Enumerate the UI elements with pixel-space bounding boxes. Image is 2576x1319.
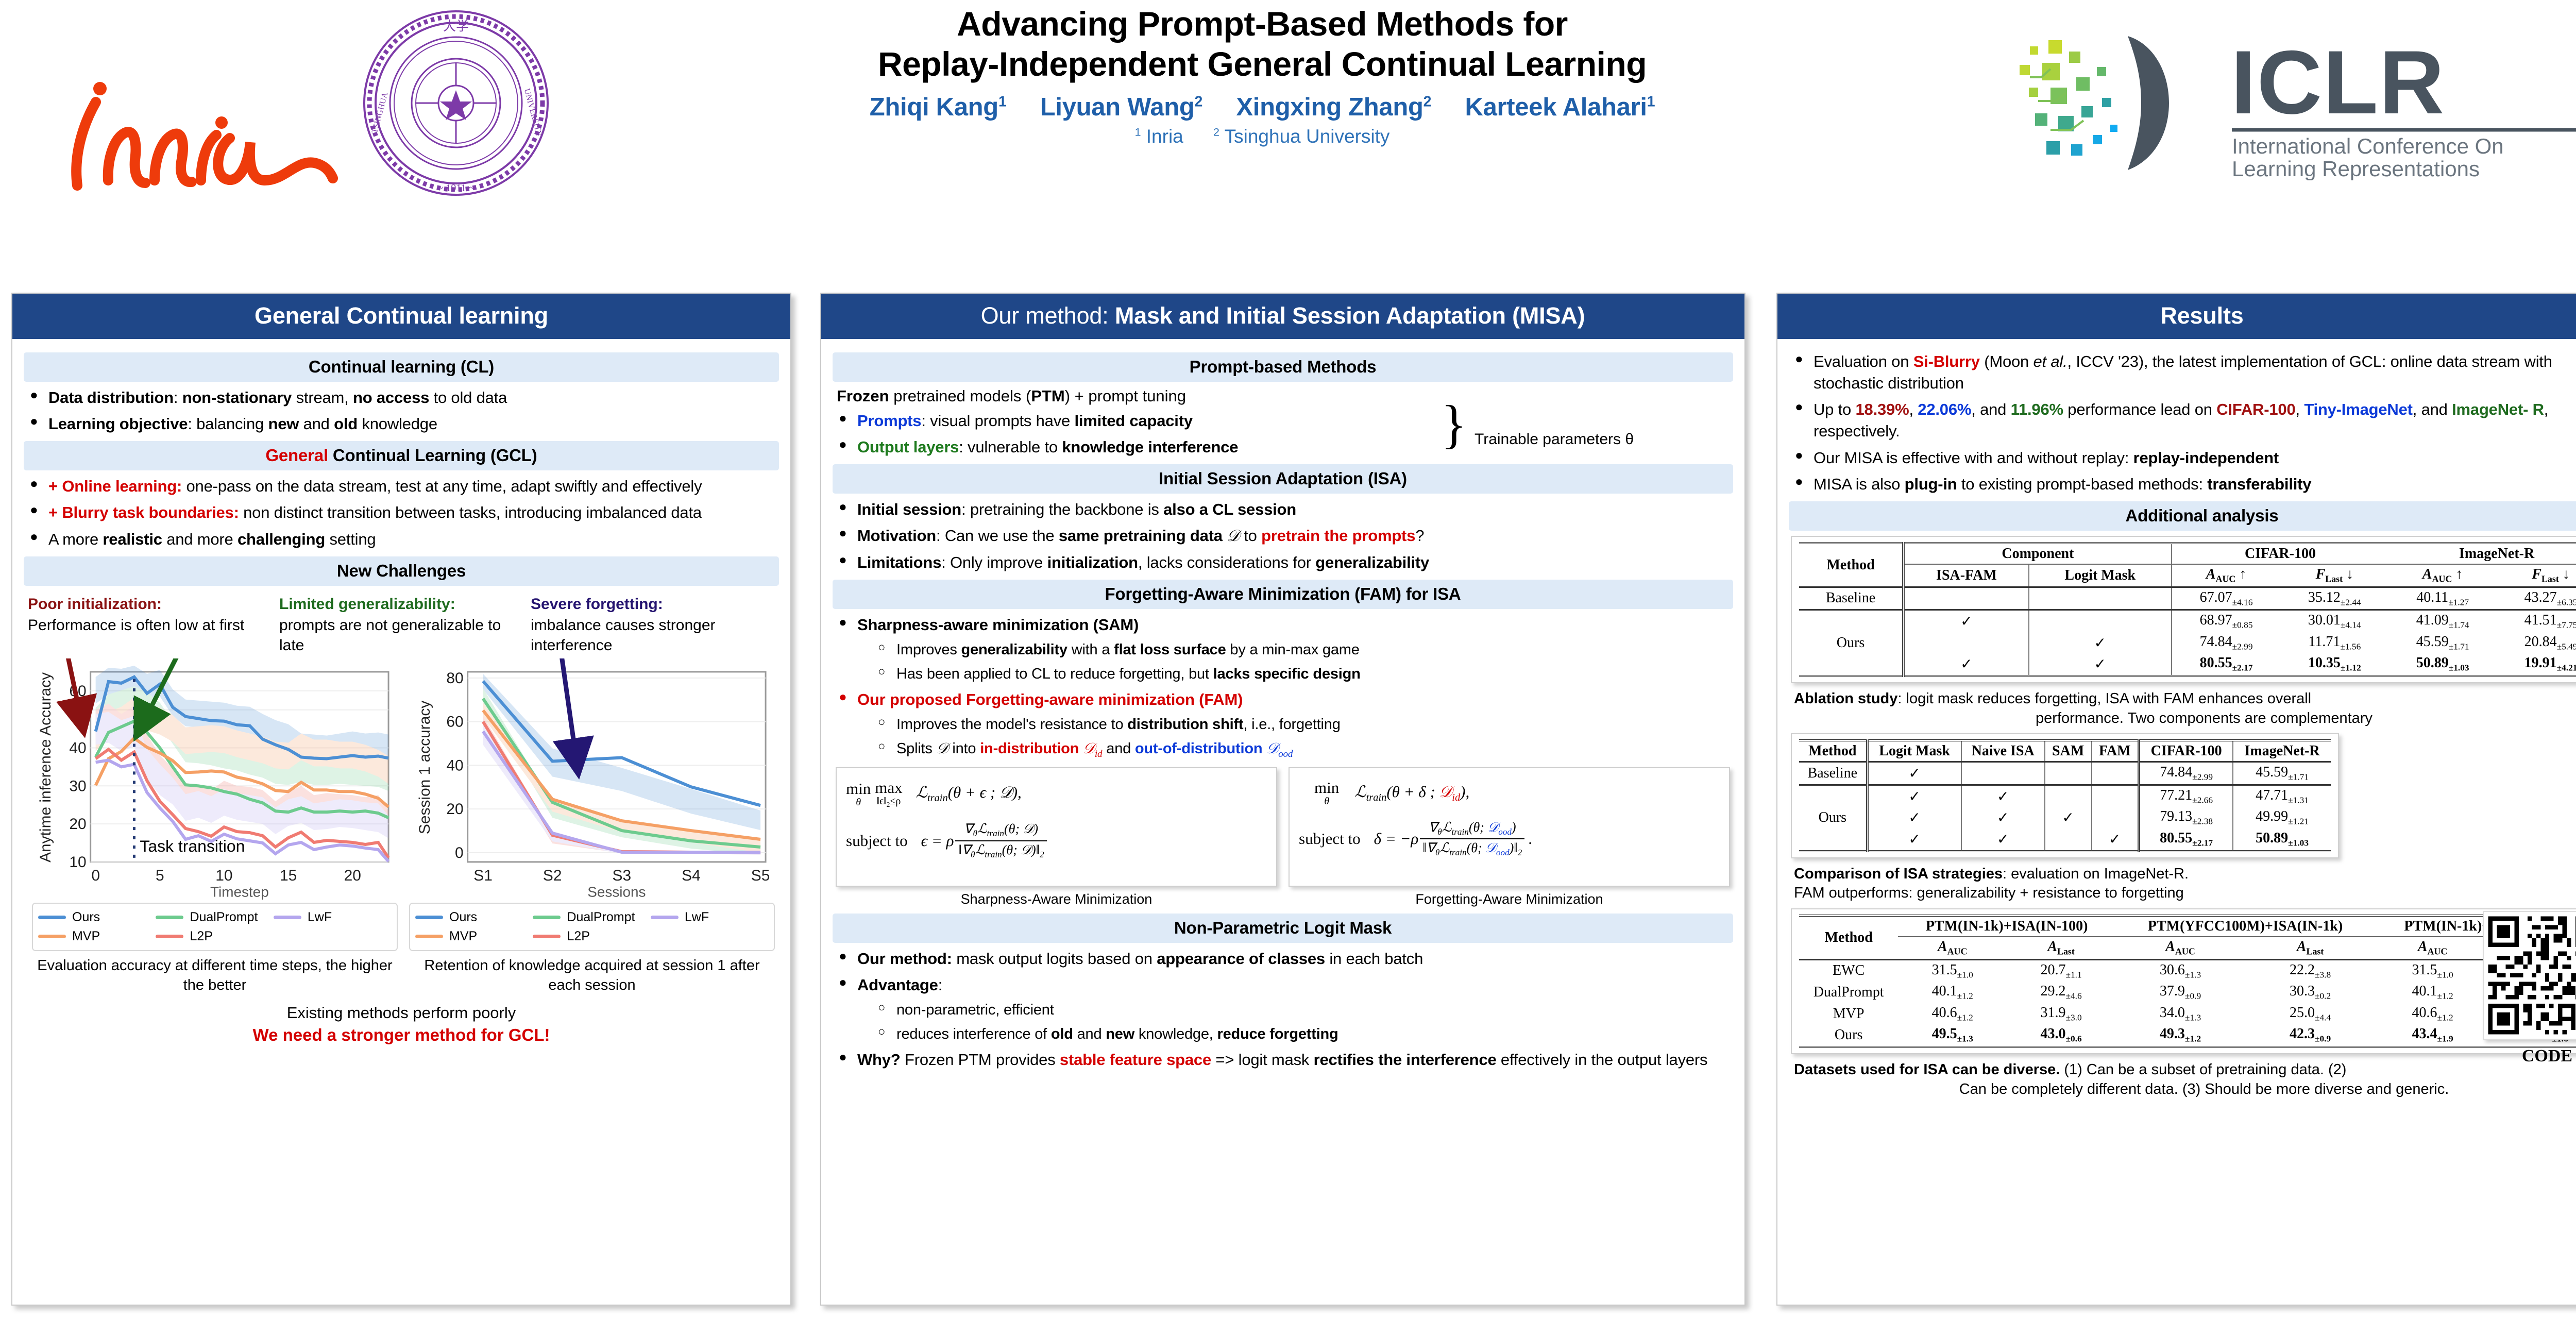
svg-text:20: 20 [344,867,361,884]
th-auc-1: AAUC [1898,937,2007,959]
svg-text:10: 10 [69,854,86,871]
task-transition-label: Task transition [140,837,245,855]
isa-bullet-list: Initial session: pretraining the backbon… [831,499,1735,573]
td-v: 43.0±0.6 [2007,1024,2115,1047]
td-v: 49.5±1.3 [1898,1024,2007,1047]
td-inr: 45.59±1.71 [2233,762,2331,785]
td-c-auc: 68.97±0.85 [2172,610,2281,632]
td-v: 30.3±0.2 [2245,982,2375,1003]
subbar-new-challenges: New Challenges [24,556,779,586]
td-c-f: 35.12±2.44 [2280,587,2388,610]
td-v: 22.2±3.8 [2245,959,2375,982]
subbar-logit-mask: Non-Parametric Logit Mask [833,914,1733,943]
subbar-continual-learning: Continual learning (CL) [24,352,779,382]
title-line-1: Advancing Prompt-Based Methods for [587,4,1937,44]
author-0: Zhiqi Kang1 [870,93,1007,122]
th-method: Method [1799,740,1867,762]
legend-item-lwf: LwF [274,910,391,925]
formula-sam-caption: Sharpness-Aware Minimization [836,891,1277,907]
subbar-additional-analysis: Additional analysis [1789,501,2576,531]
left-footnote: Existing methods perform poorly We need … [22,1003,781,1046]
trainable-parameters-label: Trainable parameters θ [1475,431,1634,448]
results-bullet-list: Evaluation on Si-Blurry (Moon et al., IC… [1787,351,2576,495]
list-item: Prompts: visual prompts have limited cap… [836,410,1444,432]
td-method: Baseline [1799,587,1904,610]
list-item: Our method: mask output logits based on … [836,948,1733,970]
td-method: DualPrompt [1799,982,1898,1003]
column-results: Results Evaluation on Si-Blurry (Moon et… [1776,293,2576,1306]
list-item: Learning objective: balancing new and ol… [27,413,779,435]
svg-text:Anytime inference Accuracy: Anytime inference Accuracy [37,672,54,863]
svg-text:20: 20 [446,801,463,818]
svg-text:S4: S4 [682,867,701,884]
chart2-legend: Ours DualPrompt LwF MVP L2P [409,903,775,951]
author-3: Karteek Alahari1 [1465,93,1655,122]
td-v: 43.4±1.9 [2375,1024,2490,1047]
th-auc-3: AAUC [2375,937,2490,959]
td-sam [2045,828,2092,851]
tsinghua-university-seal: 大学 ~ 1911 ~ TSINGHUA UNIVERSITY [361,8,551,198]
list-item: Our proposed Forgetting-aware minimizati… [836,689,1733,760]
td-i-auc: 50.89±1.03 [2388,653,2497,676]
svg-text:0: 0 [91,867,100,884]
legend-item-dualprompt: DualPrompt [533,910,650,925]
td-isafam: ✓ [1904,610,2029,632]
list-item: Motivation: Can we use the same pretrain… [836,525,1733,547]
td-isafam [1904,632,2029,654]
td-i-f: 19.91±4.21 [2497,653,2576,676]
td-v: 40.1±1.2 [1898,982,2007,1003]
td-method: Ours [1799,1024,1898,1047]
trainable-parameters-brace: } [1441,403,1467,446]
th-cifar100: CIFAR-100 [2139,740,2233,762]
td-i-f: 41.51±7.75 [2497,610,2576,632]
th-last-1: ALast [2007,937,2115,959]
td-v: 40.1±1.2 [2375,982,2490,1003]
list-item: Limitations: Only improve initialization… [836,552,1733,573]
th-fam: FAM [2092,740,2139,762]
th-ptm-in1k-isa-in100: PTM(IN-1k)+ISA(IN-100) [1898,916,2115,937]
td-inr: 47.71±1.31 [2233,785,2331,807]
title-block: Advancing Prompt-Based Methods for Repla… [587,4,1937,147]
svg-text:TSINGHUA: TSINGHUA [370,91,390,134]
svg-text:60: 60 [446,713,463,730]
td-method: Ours [1799,785,1867,851]
chart2-svg: 02040 6080 S1S2S3 S4S5 Sessions Session … [407,658,777,900]
th-method: Method [1799,543,1904,587]
page-title: Advancing Prompt-Based Methods for Repla… [587,4,1937,84]
td-isafam [1904,587,2029,610]
td-isafam: ✓ [1904,653,2029,676]
mid-column-title: Our method: Mask and Initial Session Ada… [821,294,1744,339]
sam-sub-list: Improves generalizability with a flat lo… [857,640,1733,684]
td-sam: ✓ [2045,807,2092,828]
th-logit-mask: Logit Mask [1867,740,1961,762]
th-i-flast: FLast ↓ [2497,564,2576,587]
author-1: Liyuan Wang2 [1040,93,1202,122]
poster-root: 大学 ~ 1911 ~ TSINGHUA UNIVERSITY Advancin… [0,0,2576,1319]
table-isa-strategies-wrapper: Method Logit Mask Naive ISA SAM FAM CIFA… [1791,733,2339,858]
list-item: + Online learning: one-pass on the data … [27,476,779,497]
td-c-f: 11.71±1.56 [2280,632,2388,654]
subbar-isa: Initial Session Adaptation (ISA) [833,464,1733,494]
svg-text:5: 5 [156,867,164,884]
list-item: Splits 𝒟 into in-distribution 𝒟id and ou… [876,739,1733,760]
td-v: 34.0±1.3 [2115,1003,2245,1025]
cl-bullet-list: Data distribution: non-stationary stream… [22,387,781,435]
td-logit [2029,610,2172,632]
td-logit: ✓ [2029,632,2172,654]
chart1-svg: Task transition 102030 405060 0510 1520 … [30,658,400,900]
td-logit: ✓ [1867,762,1961,785]
td-fam [2092,807,2139,828]
subbar-general-continual-learning: General Continual Learning (GCL) [24,441,779,470]
th-imagenetr: ImageNet-R [2388,543,2576,564]
td-cifar: 77.21±2.66 [2139,785,2233,807]
svg-text:Sessions: Sessions [587,884,646,900]
left-column-title: General Continual learning [12,294,790,339]
td-v: 30.6±1.3 [2115,959,2245,982]
table-isa-datasets-wrapper: Method PTM(IN-1k)+ISA(IN-100) PTM(YFCC10… [1791,908,2576,1054]
th-last-2: ALast [2245,937,2375,959]
td-v: 40.6±1.2 [1898,1003,2007,1025]
legend-item-l2p: L2P [533,929,650,944]
legend-item-lwf: LwF [651,910,768,925]
th-naive-isa: Naive ISA [1961,740,2045,762]
author-2: Xingxing Zhang2 [1236,93,1431,122]
td-cifar: 79.13±2.38 [2139,807,2233,828]
formula-fam: minθ ℒtrain(θ + δ ; 𝒟id), subject to δ =… [1289,767,1730,887]
td-naive: ✓ [1961,828,2045,851]
svg-text:20: 20 [69,816,86,833]
legend-item-mvp: MVP [415,929,533,944]
td-v: 31.9±3.0 [2007,1003,2115,1025]
td-naive: ✓ [1961,785,2045,807]
svg-text:~ 1911 ~: ~ 1911 ~ [438,182,474,194]
th-cifar100: CIFAR-100 [2172,543,2389,564]
affiliation-list: 1 Inria 2 Tsinghua University [587,126,1937,147]
th-auc-2: AAUC [2115,937,2245,959]
td-logit: ✓ [2029,653,2172,676]
td-inr: 49.99±1.21 [2233,807,2331,828]
td-c-auc: 74.84±2.99 [2172,632,2281,654]
list-item: Advantage: non-parametric, efficient red… [836,974,1733,1044]
td-method: Baseline [1799,762,1867,785]
chart2-caption: Retention of knowledge acquired at sessi… [407,956,777,995]
svg-text:International Conference On: International Conference On [2232,134,2504,158]
th-sam: SAM [2045,740,2092,762]
list-item: non-parametric, efficient [876,1000,1733,1020]
column-our-method-misa: Our method: Mask and Initial Session Ada… [820,293,1745,1306]
qr-code-icon[interactable] [2483,911,2576,1040]
fam-bullet-list: Sharpness-aware minimization (SAM) Impro… [831,614,1735,760]
right-column-title: Results [1777,294,2576,339]
chart-anytime-inference-accuracy: Task transition 102030 405060 0510 1520 … [30,658,400,995]
challenge-severe-forgetting: Severe forgetting: imbalance causes stro… [531,594,777,655]
list-item: reduces interference of old and new know… [876,1024,1733,1044]
list-item: Up to 18.39%, 22.06%, and 11.96% perform… [1792,399,2576,442]
ptm-lead: Frozen pretrained models (PTM) + prompt … [831,387,1735,405]
th-isa-fam: ISA-FAM [1904,564,2029,587]
list-item: Initial session: pretraining the backbon… [836,499,1733,520]
th-c-auc: AAUC ↑ [2172,564,2281,587]
td-c-auc: 80.55±2.17 [2172,653,2281,676]
svg-text:Learning Representations: Learning Representations [2232,157,2480,180]
td-c-f: 10.35±1.12 [2280,653,2388,676]
td-logit: ✓ [1867,785,1961,807]
td-c-f: 30.01±4.14 [2280,610,2388,632]
table-ablation-wrapper: Method Component CIFAR-100 ImageNet-R IS… [1791,536,2576,683]
challenges-row: Poor initialization: Performance is ofte… [22,591,781,655]
affiliation-0: 1 Inria [1135,126,1183,147]
subbar-prompt-based-methods: Prompt-based Methods [833,352,1733,382]
formula-fam-caption: Forgetting-Aware Minimization [1289,891,1730,907]
svg-text:Timestep: Timestep [210,884,269,900]
td-method: EWC [1799,959,1898,982]
td-c-auc: 67.07±4.16 [2172,587,2281,610]
svg-text:0: 0 [455,844,464,861]
td-logit: ✓ [1867,807,1961,828]
td-fam [2092,762,2139,785]
list-item: + Blurry task boundaries: non distinct t… [27,502,779,523]
td-i-auc: 45.59±1.71 [2388,632,2497,654]
th-ptm-yfcc-isa-in1k: PTM(YFCC100M)+ISA(IN-1k) [2115,916,2375,937]
list-item: Sharpness-aware minimization (SAM) Impro… [836,614,1733,684]
charts-row: Task transition 102030 405060 0510 1520 … [22,655,781,995]
gcl-bullet-list: + Online learning: one-pass on the data … [22,476,781,550]
affiliation-1: 2 Tsinghua University [1213,126,1389,147]
table1-caption: Ablation study: logit mask reduces forge… [1790,689,2576,728]
table3-caption: Datasets used for ISA can be diverse. (1… [1790,1060,2576,1099]
legend-item-l2p: L2P [156,929,273,944]
logit-sub-list: non-parametric, efficient reduces interf… [857,1000,1733,1044]
td-naive: ✓ [1961,807,2045,828]
td-method: MVP [1799,1003,1898,1025]
chart-session1-accuracy: 02040 6080 S1S2S3 S4S5 Sessions Session … [407,658,777,995]
iclr-logo: ICLR International Conference On Learnin… [1999,15,2576,180]
td-method: Ours [1799,610,1904,676]
prompt-bullet-list: Prompts: visual prompts have limited cap… [831,410,1446,458]
td-i-auc: 40.11±1.27 [2388,587,2497,610]
fam-sub-list: Improves the model's resistance to distr… [857,715,1733,760]
td-logit: ✓ [1867,828,1961,851]
logit-bullet-list: Our method: mask output logits based on … [831,948,1735,1071]
chart1-legend: Ours DualPrompt LwF MVP L2P [32,903,398,951]
list-item: MISA is also plug-in to existing prompt-… [1792,474,2576,495]
table2-caption: Comparison of ISA strategies: evaluation… [1790,865,2338,903]
list-item: Data distribution: non-stationary stream… [27,387,779,409]
td-i-f: 20.84±5.49 [2497,632,2576,654]
inria-logo [46,77,340,196]
td-fam: ✓ [2092,828,2139,851]
author-list: Zhiqi Kang1 Liyuan Wang2 Xingxing Zhang2… [587,93,1937,122]
chart1-caption: Evaluation accuracy at different time st… [30,956,400,995]
legend-item-ours: Ours [415,910,533,925]
td-v: 25.0±4.4 [2245,1003,2375,1025]
td-naive [1961,762,2045,785]
formula-sam-block: minθ max‖ϵ‖2≤ρ ℒtrain(θ + ϵ ; 𝒟), subjec… [836,767,1277,907]
th-i-auc: AAUC ↑ [2388,564,2497,587]
svg-text:80: 80 [446,670,463,687]
svg-text:ICLR: ICLR [2231,32,2445,133]
th-component: Component [1904,543,2172,564]
th-logit-mask: Logit Mask [2029,564,2172,587]
formula-sam: minθ max‖ϵ‖2≤ρ ℒtrain(θ + ϵ ; 𝒟), subjec… [836,767,1277,887]
svg-text:40: 40 [446,757,463,774]
list-item: Improves the model's resistance to distr… [876,715,1733,735]
td-v: 31.5±1.0 [1898,959,2007,982]
title-line-2: Replay-Independent General Continual Lea… [587,44,1937,84]
qr-block: CODE [2480,911,2576,1066]
svg-text:30: 30 [69,777,86,794]
table-isa-strategies: Method Logit Mask Naive ISA SAM FAM CIFA… [1799,739,2331,852]
svg-text:S5: S5 [751,867,770,884]
list-item: Improves generalizability with a flat lo… [876,640,1733,660]
svg-text:大学: 大学 [443,19,469,33]
legend-item-mvp: MVP [38,929,156,944]
td-v: 20.7±1.1 [2007,959,2115,982]
td-v: 40.6±1.2 [2375,1003,2490,1025]
svg-text:S1: S1 [473,867,493,884]
td-v: 31.5±1.0 [2375,959,2490,982]
td-i-auc: 41.09±1.74 [2388,610,2497,632]
svg-text:10: 10 [215,867,232,884]
formula-fam-block: minθ ℒtrain(θ + δ ; 𝒟id), subject to δ =… [1289,767,1730,907]
td-v: 49.3±1.2 [2115,1024,2245,1047]
list-item: A more realistic and more challenging se… [27,529,779,550]
table-ablation: Method Component CIFAR-100 ImageNet-R IS… [1799,542,2576,677]
svg-text:S2: S2 [543,867,562,884]
column-general-continual-learning: General Continual learning Continual lea… [11,293,791,1306]
td-fam [2092,785,2139,807]
challenge-limited-generalizability: Limited generalizability: prompts are no… [279,594,526,655]
th-method: Method [1799,916,1898,959]
formula-row: minθ max‖ϵ‖2≤ρ ℒtrain(θ + ϵ ; 𝒟), subjec… [831,765,1735,907]
list-item: Evaluation on Si-Blurry (Moon et al., IC… [1792,351,2576,394]
th-c-flast: FLast ↓ [2280,564,2388,587]
list-item: Why? Frozen PTM provides stable feature … [836,1049,1733,1071]
td-v: 37.9±0.9 [2115,982,2245,1003]
poster-header: 大学 ~ 1911 ~ TSINGHUA UNIVERSITY Advancin… [0,0,2576,289]
td-v: 29.2±4.6 [2007,982,2115,1003]
td-cifar: 80.55±2.17 [2139,828,2233,851]
table-isa-datasets: Method PTM(IN-1k)+ISA(IN-100) PTM(YFCC10… [1799,915,2576,1048]
td-sam [2045,762,2092,785]
svg-text:40: 40 [69,739,86,756]
svg-text:15: 15 [280,867,297,884]
challenge-poor-initialization: Poor initialization: Performance is ofte… [28,594,274,655]
td-v: 42.3±0.9 [2245,1024,2375,1047]
svg-text:Session 1 accuracy: Session 1 accuracy [416,700,433,834]
qr-code-label: CODE [2480,1046,2576,1066]
td-logit [2029,587,2172,610]
subbar-fam: Forgetting-Aware Minimization (FAM) for … [833,580,1733,609]
legend-item-ours: Ours [38,910,156,925]
legend-item-dualprompt: DualPrompt [156,910,273,925]
td-i-f: 43.27±6.35 [2497,587,2576,610]
svg-text:S3: S3 [613,867,632,884]
td-inr: 50.89±1.03 [2233,828,2331,851]
list-item: Output layers: vulnerable to knowledge i… [836,436,1444,458]
th-imagenetr: ImageNet-R [2233,740,2331,762]
list-item: Has been applied to CL to reduce forgett… [876,664,1733,684]
td-cifar: 74.84±2.99 [2139,762,2233,785]
list-item: Our MISA is effective with and without r… [1792,447,2576,469]
td-sam [2045,785,2092,807]
